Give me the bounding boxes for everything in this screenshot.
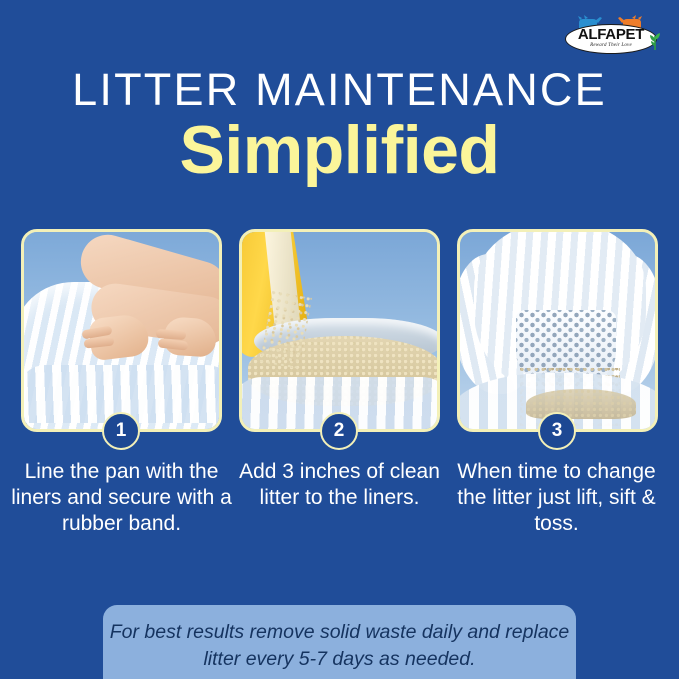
step-number-badge-1: 1 — [102, 412, 140, 450]
footer-tip-text: For best results remove solid waste dail… — [103, 619, 576, 673]
step-card-1 — [21, 229, 222, 432]
page-title-line1: LITTER MAINTENANCE — [0, 66, 679, 114]
step-caption-3: When time to change the litter just lift… — [444, 459, 669, 537]
step-number-badge-3: 3 — [538, 412, 576, 450]
logo-brand-text: ALFAPET — [565, 27, 657, 42]
step-caption-1: Line the pan with the liners and secure … — [9, 459, 234, 537]
footer-tip-banner: For best results remove solid waste dail… — [103, 605, 576, 679]
step-card-3 — [457, 229, 658, 432]
alfapet-logo: ALFAPET Reward Their Love — [559, 14, 663, 56]
poster-canvas: ALFAPET Reward Their Love LITTER MAINTEN… — [0, 0, 679, 679]
step-2-photo — [242, 232, 437, 429]
logo-tagline-text: Reward Their Love — [565, 43, 657, 49]
step-caption-2: Add 3 inches of clean litter to the line… — [227, 459, 452, 511]
step-number-badge-2: 2 — [320, 412, 358, 450]
step-3-photo — [460, 232, 655, 429]
step-1-photo — [24, 232, 219, 429]
page-title-line2: Simplified — [0, 112, 679, 188]
step-card-2 — [239, 229, 440, 432]
